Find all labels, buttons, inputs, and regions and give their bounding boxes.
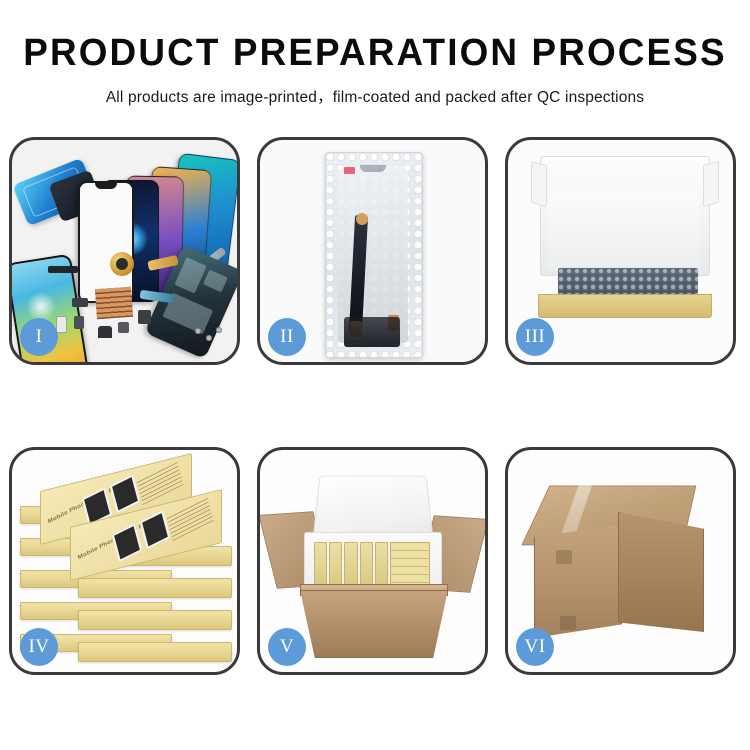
process-step-panel-ii: II [257,137,488,365]
carton-handle-tab-icon [556,550,572,564]
inner-box-front-icon [538,294,712,318]
process-step-panel-vi: VI [505,447,736,675]
bubble-wrap-bag-icon [325,152,423,358]
small-part-icon [138,310,151,324]
packed-boxes-icon [314,542,430,588]
retail-box-icon [78,578,232,598]
box-artwork-thumb [110,474,141,513]
page-header: PRODUCT PREPARATION PROCESS All products… [0,0,750,107]
connector-icon [356,213,368,225]
step-badge-vi: VI [516,628,554,666]
small-part-icon [98,326,112,338]
carton-right-face-icon [618,512,704,632]
screws-icon [195,326,225,346]
earpiece-strip-icon [48,266,78,273]
page-subtitle: All products are image-printed，film-coat… [0,85,750,107]
step-badge-v: V [268,628,306,666]
box-artwork-thumb [140,510,171,549]
foam-sheet-icon [548,192,700,270]
step-badge-iv: IV [20,628,58,666]
carton-handle-tab-icon [560,616,576,630]
retail-box-icon [78,642,232,662]
copper-mesh-icon [95,287,133,319]
process-step-panel-v: V [257,447,488,675]
retail-box-icon [78,610,232,630]
box-spec-lines [136,461,183,505]
speaker-module-icon [110,252,134,276]
process-step-panel-i: I [9,137,240,365]
process-step-panel-iii: III [505,137,736,365]
carton-front-wall-icon [300,590,448,658]
qc-sticker-icon [344,167,355,174]
process-step-panel-iv: Mobile Phone Spare Parts Mobile Phone Sp… [9,447,240,675]
small-part-icon [74,316,84,329]
small-part-icon [72,298,88,307]
step-badge-iii: III [516,318,554,356]
bubble-wrap-contents-icon [558,268,698,296]
step-badge-i: I [20,318,58,356]
phone-screen-icon [78,181,134,303]
screen-shadow-icon [344,317,400,347]
process-step-grid: I II III [9,137,741,675]
small-part-icon [118,322,129,333]
step-badge-ii: II [268,318,306,356]
sim-tray-icon [56,316,67,333]
page-title: PRODUCT PREPARATION PROCESS [11,34,739,72]
carton-left-face-icon [534,524,622,638]
box-spec-lines [166,497,213,541]
